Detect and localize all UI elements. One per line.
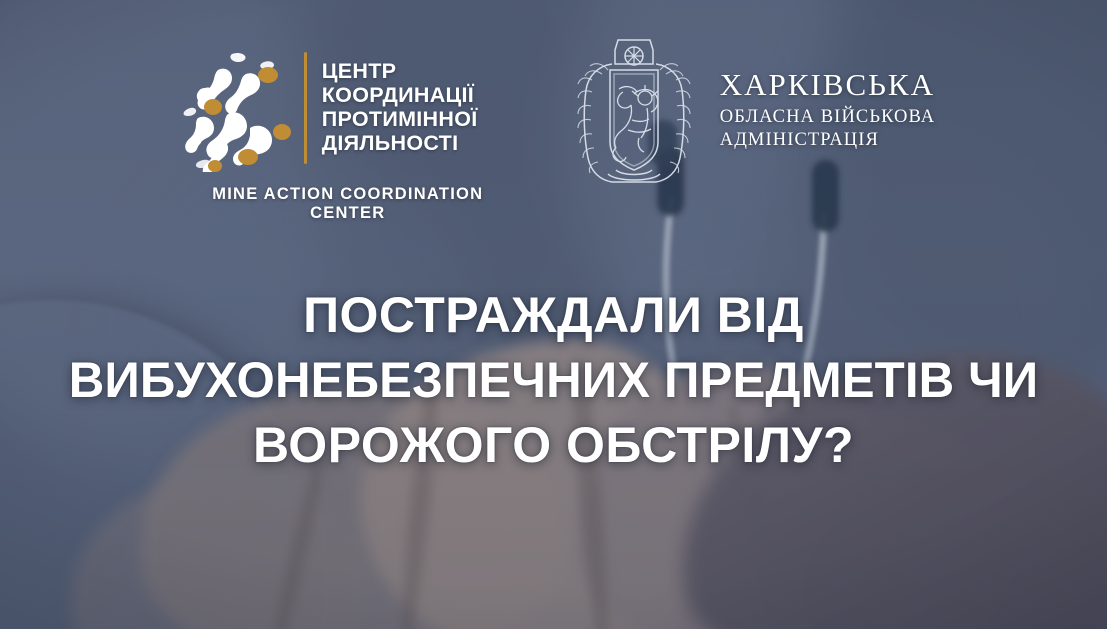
kharkiv-title-line-1: ХАРКІВСЬКА (720, 68, 936, 101)
macc-title-line-3: ПРОТИМІННОЇ (322, 108, 478, 132)
macc-title: ЦЕНТР КООРДИНАЦІЇ ПРОТИМІННОЇ ДІЯЛЬНОСТІ (322, 60, 478, 155)
headline-line-2: ВИБУХОНЕБЕЗПЕЧНИХ ПРЕДМЕТІВ ЧИ (8, 348, 1098, 413)
headline-line-1: ПОСТРАЖДАЛИ ВІД (0, 283, 1107, 348)
kharkiv-title-line-2: ОБЛАСНА ВІЙСЬКОВА (720, 106, 936, 129)
kharkiv-oblast-title: ХАРКІВСЬКА ОБЛАСНА ВІЙСЬКОВА АДМІНІСТРАЦ… (720, 68, 936, 153)
headline-line-3: ВОРОЖОГО ОБСТРІЛУ? (0, 413, 1107, 478)
kharkiv-title-line-3: АДМІНІСТРАЦІЯ (720, 129, 936, 152)
macc-title-line-4: ДІЯЛЬНОСТІ (322, 132, 478, 156)
macc-tagline: MINE ACTION COORDINATION CENTER (172, 185, 524, 223)
banner-root: ЦЕНТР КООРДИНАЦІЇ ПРОТИМІННОЇ ДІЯЛЬНОСТІ… (0, 0, 1107, 629)
mine-network-icon (172, 44, 300, 172)
logo-band: ЦЕНТР КООРДИНАЦІЇ ПРОТИМІННОЇ ДІЯЛЬНОСТІ… (0, 0, 1107, 225)
kharkiv-oblast-coat-of-arms-icon (568, 34, 700, 186)
macc-divider (304, 52, 307, 164)
kharkiv-oblast-logo[interactable]: ХАРКІВСЬКА ОБЛАСНА ВІЙСЬКОВА АДМІНІСТРАЦ… (568, 0, 936, 186)
macc-title-line-2: КООРДИНАЦІЇ (322, 84, 478, 108)
macc-title-line-1: ЦЕНТР (322, 60, 478, 84)
macc-logo[interactable]: ЦЕНТР КООРДИНАЦІЇ ПРОТИМІННОЇ ДІЯЛЬНОСТІ… (172, 0, 524, 223)
macc-lockup-row: ЦЕНТР КООРДИНАЦІЇ ПРОТИМІННОЇ ДІЯЛЬНОСТІ (172, 44, 524, 172)
headline: ПОСТРАЖДАЛИ ВІД ВИБУХОНЕБЕЗПЕЧНИХ ПРЕДМЕ… (0, 283, 1107, 478)
